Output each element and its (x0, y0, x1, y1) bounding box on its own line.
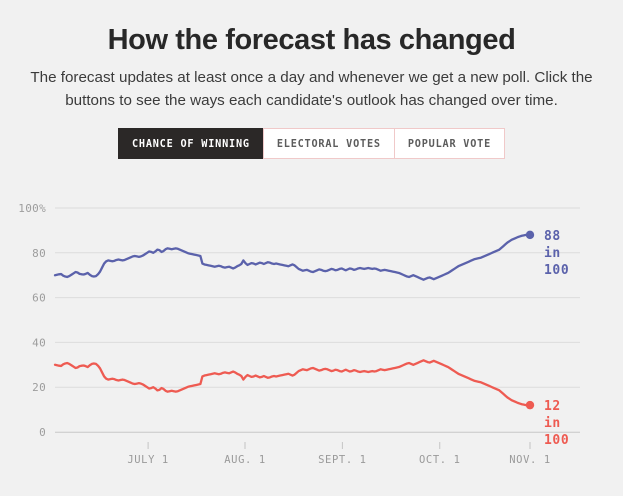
end-label-red-line1: 12 (544, 399, 561, 414)
y-axis-tick-label: 80 (32, 247, 46, 260)
y-axis-tick-label: 60 (32, 292, 46, 305)
x-axis-tick-label: NOV. 1 (509, 454, 551, 466)
y-axis-tick-label: 40 (32, 336, 46, 349)
end-label-red-line3: 100 (544, 433, 569, 448)
x-axis-tick-label: SEPT. 1 (318, 454, 366, 466)
x-axis-tick-label: AUG. 1 (224, 454, 266, 466)
chart-svg: 020406080100%JULY 1AUG. 1SEPT. 1OCT. 1NO… (0, 190, 623, 496)
y-axis-tick-label: 100% (18, 202, 46, 215)
end-label-red-line2: in (544, 416, 561, 431)
forecast-line-chart: 020406080100%JULY 1AUG. 1SEPT. 1OCT. 1NO… (0, 190, 623, 496)
y-axis-tick-label: 0 (39, 426, 46, 439)
end-label-blue-line2: in (544, 246, 561, 261)
page-subtitle: The forecast updates at least once a day… (12, 66, 611, 112)
tab-electoral-votes[interactable]: ELECTORAL VOTES (263, 128, 394, 159)
end-label-blue-line1: 88 (544, 229, 561, 244)
tab-popular-vote[interactable]: POPULAR VOTE (394, 128, 505, 159)
x-axis-tick-label: JULY 1 (127, 454, 169, 466)
forecast-chart-page: How the forecast has changed The forecas… (0, 0, 623, 496)
y-axis-tick-label: 20 (32, 381, 46, 394)
end-label-blue-line3: 100 (544, 263, 569, 278)
series-line-blue (55, 235, 530, 280)
chart-mode-tab-group: CHANCE OF WINNING ELECTORAL VOTES POPULA… (0, 128, 623, 159)
series-line-red (55, 360, 530, 405)
series-end-dot-blue (526, 231, 534, 239)
x-axis-tick-label: OCT. 1 (419, 454, 461, 466)
tab-chance-of-winning[interactable]: CHANCE OF WINNING (118, 128, 263, 159)
series-end-dot-red (526, 401, 534, 409)
page-title: How the forecast has changed (0, 22, 623, 58)
